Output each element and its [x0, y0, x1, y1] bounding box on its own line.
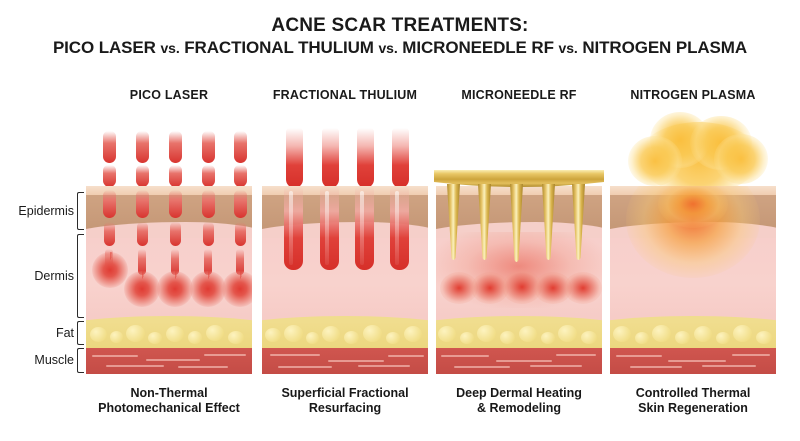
fat-cell — [635, 332, 649, 344]
subtitle-treatment-2: FRACTIONAL THULIUM — [184, 38, 374, 57]
panel-header-label: PICO LASER — [86, 88, 252, 102]
muscle-fiber — [178, 366, 228, 368]
muscle-fiber — [106, 365, 164, 367]
microneedle — [572, 184, 585, 260]
panel-caption-nitrogen-plasma: Controlled Thermal Skin Regeneration — [610, 386, 776, 416]
microneedle — [510, 184, 523, 262]
photomechanical-burst — [92, 252, 128, 288]
thulium-beam — [357, 128, 374, 188]
panel-caption-microneedle-rf: Deep Dermal Heating & Remodeling — [436, 386, 602, 416]
fat-cell — [500, 331, 515, 344]
muscle-fiber — [732, 354, 770, 356]
pico-pulse — [169, 131, 182, 163]
fat-layer — [262, 322, 428, 348]
muscle-layer — [86, 348, 252, 374]
photomechanical-burst — [157, 271, 193, 307]
fat-layer — [610, 322, 776, 348]
fat-cell — [694, 326, 712, 342]
fat-cell — [148, 332, 162, 344]
fat-cell — [477, 325, 496, 342]
skin-cross-section-pico-laser — [86, 186, 252, 374]
muscle-fiber — [630, 366, 682, 368]
axis-item-fat: Fat — [56, 321, 84, 345]
fat-cell — [90, 327, 107, 342]
thulium-beam — [322, 128, 339, 188]
muscle-fiber — [441, 355, 489, 357]
pico-pulse — [103, 165, 116, 187]
fat-cell — [581, 331, 597, 344]
pico-pulse — [202, 131, 215, 163]
panel-header-label: MICRONEEDLE RF — [436, 88, 602, 102]
subtitle-treatment-4: NITROGEN PLASMA — [582, 38, 747, 57]
fat-cell — [322, 326, 340, 342]
subtitle-vs-2: vs. — [378, 40, 397, 56]
fat-cell — [284, 325, 303, 342]
photomechanical-burst — [222, 271, 252, 307]
muscle-fiber — [556, 354, 596, 356]
caption-line-2: & Remodeling — [436, 401, 602, 416]
photomechanical-burst — [190, 271, 226, 307]
thulium-column-in-skin — [390, 186, 409, 270]
microneedle — [447, 184, 460, 260]
acne-scar-treatment-infographic: ACNE SCAR TREATMENTS: PICO LASER vs. FRA… — [0, 0, 800, 441]
muscle-fiber — [496, 360, 552, 362]
pico-pulse — [202, 165, 215, 187]
column-header-fractional-thulium: FRACTIONAL THULIUM — [262, 88, 428, 102]
muscle-fiber — [92, 355, 138, 357]
pico-pulse — [136, 165, 149, 187]
muscle-fiber — [668, 360, 726, 362]
pico-pulse-in-dermis — [104, 222, 115, 246]
caption-line-2: Skin Regeneration — [610, 401, 776, 416]
axis-label-dermis: Dermis — [34, 270, 77, 283]
beam-highlight — [395, 191, 399, 265]
fat-cell — [733, 325, 752, 342]
caption-line-1: Deep Dermal Heating — [436, 386, 602, 401]
fat-cell — [206, 325, 224, 341]
pico-pulse-in-dermis — [170, 222, 181, 246]
pico-pulse-in-epidermis — [136, 190, 149, 218]
muscle-layer — [610, 348, 776, 374]
fat-cell — [386, 332, 400, 344]
muscle-fiber — [278, 366, 332, 368]
page-subtitle: PICO LASER vs. FRACTIONAL THULIUM vs. MI… — [0, 37, 800, 59]
muscle-fiber — [328, 360, 384, 362]
skin-cross-section-fractional-thulium — [262, 186, 428, 374]
thulium-column-in-skin — [320, 186, 339, 270]
axis-label-muscle: Muscle — [34, 354, 77, 367]
muscle-layer — [262, 348, 428, 374]
muscle-layer — [436, 348, 602, 374]
muscle-fiber — [454, 366, 510, 368]
skin-layer-axis: Epidermis Dermis Fat Muscle — [0, 186, 84, 374]
pico-pulse-in-dermis — [203, 222, 214, 246]
title-block: ACNE SCAR TREATMENTS: PICO LASER vs. FRA… — [0, 14, 800, 59]
muscle-fiber — [616, 355, 662, 357]
fat-cell — [438, 326, 456, 342]
pico-pulse-in-epidermis — [103, 190, 116, 218]
fat-cell — [166, 326, 184, 342]
muscle-fiber — [388, 355, 424, 357]
bracket-muscle — [77, 348, 84, 373]
muscle-fiber — [146, 359, 200, 361]
panel-header-label: FRACTIONAL THULIUM — [262, 88, 428, 102]
bracket-fat — [77, 321, 84, 345]
fat-cell — [265, 328, 281, 342]
axis-item-epidermis: Epidermis — [18, 192, 84, 230]
caption-line-1: Non-Thermal — [86, 386, 252, 401]
plasma-cloud-lobe — [628, 136, 682, 186]
axis-label-fat: Fat — [56, 327, 77, 340]
microneedle-rf-handpiece — [436, 170, 602, 300]
caption-line-2: Resurfacing — [262, 401, 428, 416]
axis-label-epidermis: Epidermis — [18, 205, 77, 218]
plasma-cloud-lobe — [714, 134, 768, 184]
panel-caption-fractional-thulium: Superficial Fractional Resurfacing — [262, 386, 428, 416]
thulium-column-in-skin — [355, 186, 374, 270]
pico-pulse — [234, 165, 247, 187]
fat-cell — [126, 325, 145, 342]
fat-cell — [541, 332, 555, 344]
caption-line-2: Photomechanical Effect — [86, 401, 252, 416]
beam-highlight — [360, 191, 364, 265]
fat-cell — [110, 331, 123, 343]
pico-pulse-in-epidermis — [234, 190, 247, 218]
beam-highlight — [289, 191, 293, 265]
subtitle-vs-1: vs. — [160, 40, 179, 56]
pico-pulse — [136, 131, 149, 163]
fat-cell — [363, 325, 382, 342]
microneedle — [542, 184, 555, 260]
column-header-microneedle-rf: MICRONEEDLE RF — [436, 88, 602, 102]
caption-line-1: Controlled Thermal — [610, 386, 776, 401]
page-title: ACNE SCAR TREATMENTS: — [0, 14, 800, 37]
subtitle-vs-3: vs. — [559, 40, 578, 56]
fat-layer — [86, 322, 252, 348]
muscle-fiber — [530, 365, 582, 367]
fat-cell — [613, 326, 631, 342]
caption-line-1: Superficial Fractional — [262, 386, 428, 401]
fat-cell — [228, 331, 244, 344]
bracket-epidermis — [77, 192, 84, 230]
skin-cross-section-nitrogen-plasma — [610, 186, 776, 374]
photomechanical-burst — [124, 271, 160, 307]
bracket-dermis — [77, 234, 84, 318]
muscle-fiber — [358, 365, 410, 367]
pico-pulse-in-dermis — [137, 222, 148, 246]
pico-pulse-in-dermis — [235, 222, 246, 246]
thulium-column-in-skin — [284, 186, 303, 270]
fat-cell — [306, 332, 319, 344]
microneedle — [478, 184, 491, 260]
subtitle-treatment-1: PICO LASER — [53, 38, 156, 57]
pico-pulse — [169, 165, 182, 187]
pico-pulse — [103, 131, 116, 163]
panel-caption-pico-laser: Non-Thermal Photomechanical Effect — [86, 386, 252, 416]
axis-item-dermis: Dermis — [34, 234, 84, 318]
fat-cell — [404, 326, 422, 342]
fat-cell — [652, 325, 671, 342]
fat-cell — [716, 332, 730, 344]
fat-cell — [344, 331, 359, 344]
pico-pulse-in-epidermis — [202, 190, 215, 218]
fat-cell — [519, 326, 537, 342]
column-header-nitrogen-plasma: NITROGEN PLASMA — [610, 88, 776, 102]
fat-cell — [756, 331, 772, 344]
pico-pulse-in-epidermis — [169, 190, 182, 218]
fat-cell — [188, 331, 202, 344]
subtitle-treatment-3: MICRONEEDLE RF — [402, 38, 554, 57]
beam-highlight — [325, 191, 329, 265]
fat-layer — [436, 322, 602, 348]
fat-cell — [558, 325, 577, 342]
column-header-pico-laser: PICO LASER — [86, 88, 252, 102]
panel-header-label: NITROGEN PLASMA — [610, 88, 776, 102]
thulium-beam — [286, 128, 303, 188]
muscle-fiber — [204, 354, 246, 356]
fat-cell — [675, 331, 690, 344]
axis-item-muscle: Muscle — [34, 348, 84, 373]
fat-cell — [460, 332, 474, 344]
muscle-fiber — [270, 354, 320, 356]
thulium-beam — [392, 128, 409, 188]
muscle-fiber — [702, 365, 756, 367]
pico-pulse — [234, 131, 247, 163]
